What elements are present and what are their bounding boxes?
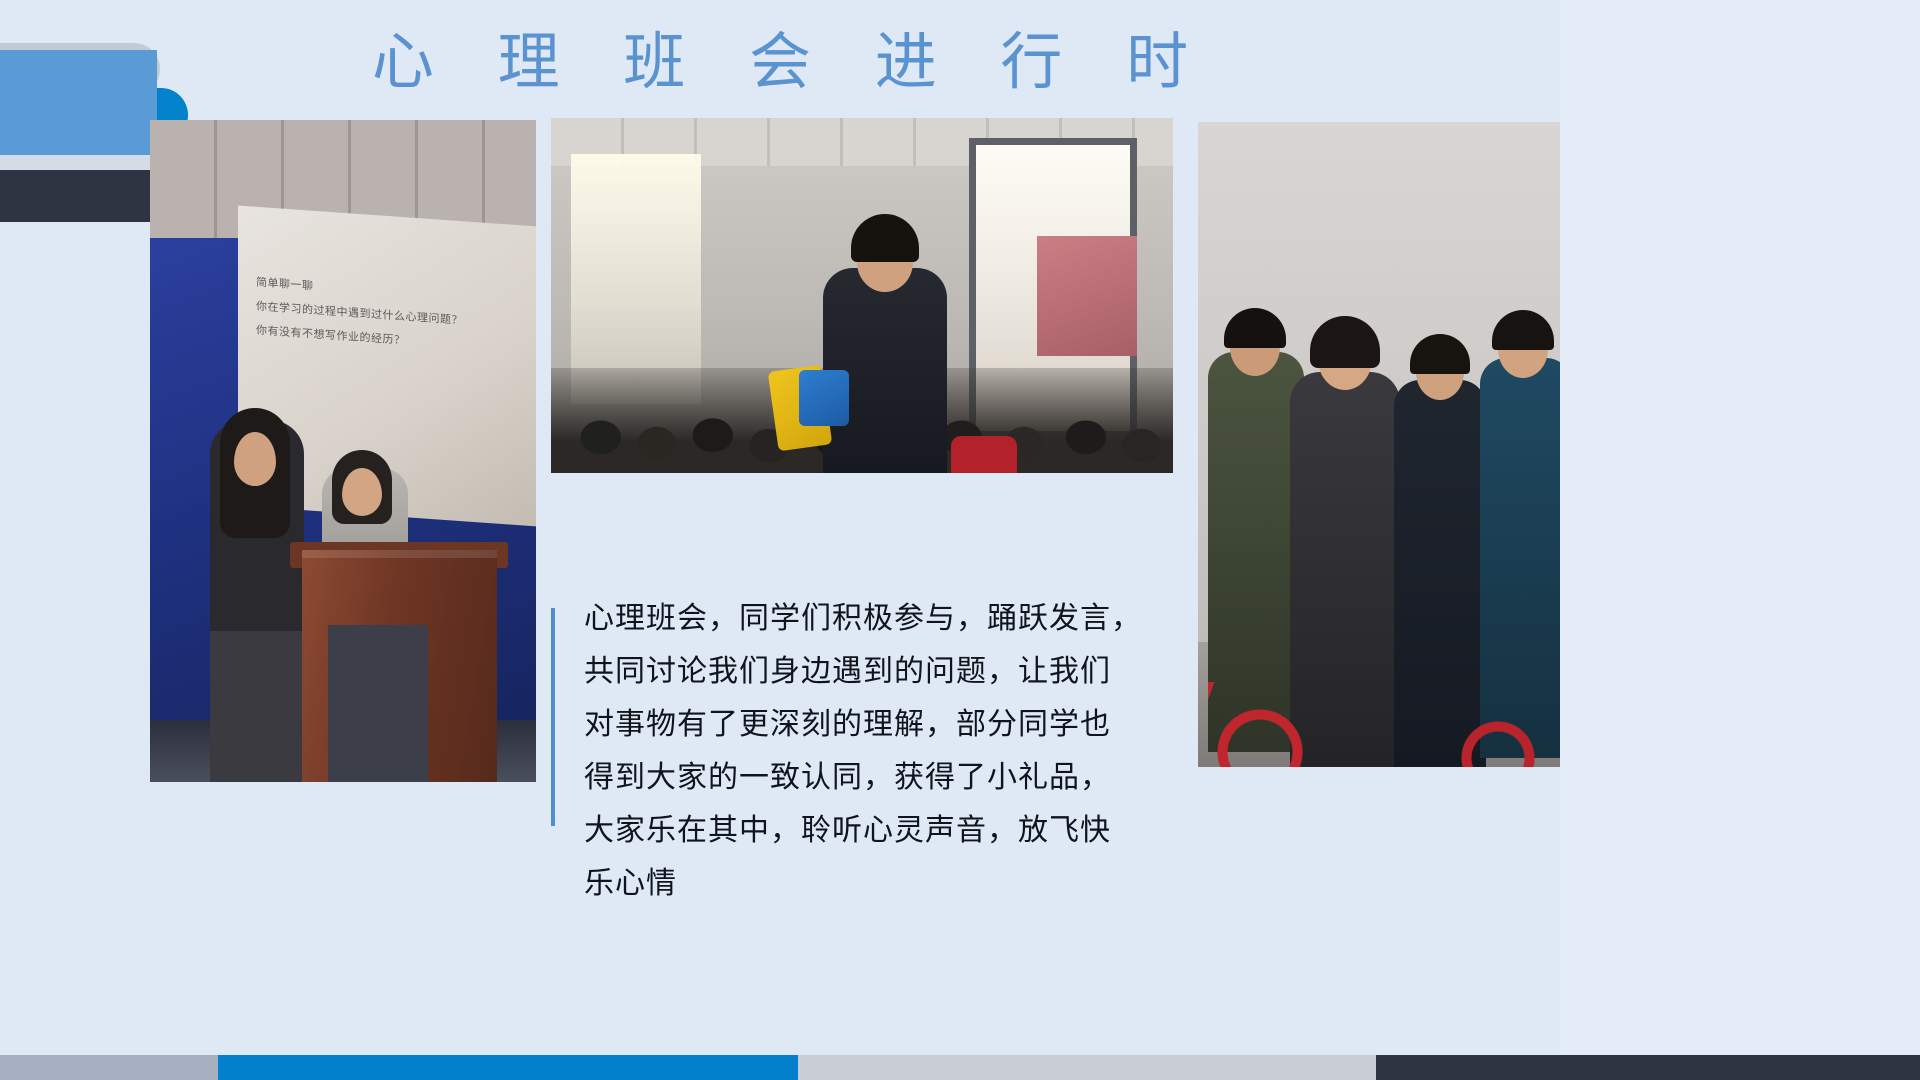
page-title: 心 理 班 会 进 行 时: [0, 22, 1560, 102]
body-line-5: 大家乐在其中，聆听心灵声音，放飞快: [584, 804, 1164, 857]
slide-right-margin: [1560, 0, 1920, 1080]
presenter-right-face: [342, 468, 382, 516]
red-chair: [951, 436, 1017, 473]
red-chair-foreground-left: [1208, 682, 1358, 767]
body-line-4: 得到大家的一致认同，获得了小礼品，: [584, 751, 1164, 804]
bottom-strip-segment-blue: [218, 1055, 798, 1080]
body-paragraph: 心理班会，同学们积极参与，踊跃发言， 共同讨论我们身边遇到的问题，让我们 对事物…: [584, 592, 1164, 910]
bottom-color-strip: [0, 1055, 1920, 1080]
body-line-6: 乐心情: [584, 857, 1164, 910]
podium-recess: [328, 625, 428, 782]
body-line-1: 心理班会，同学们积极参与，踊跃发言，: [584, 592, 1164, 645]
bottom-strip-segment-gray: [0, 1055, 218, 1080]
photo-students-standing: [1198, 122, 1560, 767]
slide-canvas: 心 理 班 会 进 行 时 简单聊一聊 你在学习的过程中遇到过什么心理问题？ 你…: [0, 0, 1560, 1080]
student-4-body: [1480, 358, 1560, 758]
photo-classroom-audience: [551, 118, 1173, 473]
body-line-2: 共同讨论我们身边遇到的问题，让我们: [584, 645, 1164, 698]
window-light-wash: [571, 154, 701, 404]
presenter-left-face: [234, 432, 276, 486]
blue-gift-item: [799, 370, 849, 426]
red-chair-foreground-right: [1428, 702, 1560, 767]
bottom-strip-segment-navy: [1376, 1055, 1920, 1080]
text-accent-line: [551, 608, 555, 826]
window-view-building: [1037, 236, 1137, 356]
photo-podium-presenters: 简单聊一聊 你在学习的过程中遇到过什么心理问题？ 你有没有不想写作业的经历？: [150, 120, 536, 782]
body-line-3: 对事物有了更深刻的理解，部分同学也: [584, 698, 1164, 751]
bottom-strip-segment-light: [798, 1055, 1376, 1080]
